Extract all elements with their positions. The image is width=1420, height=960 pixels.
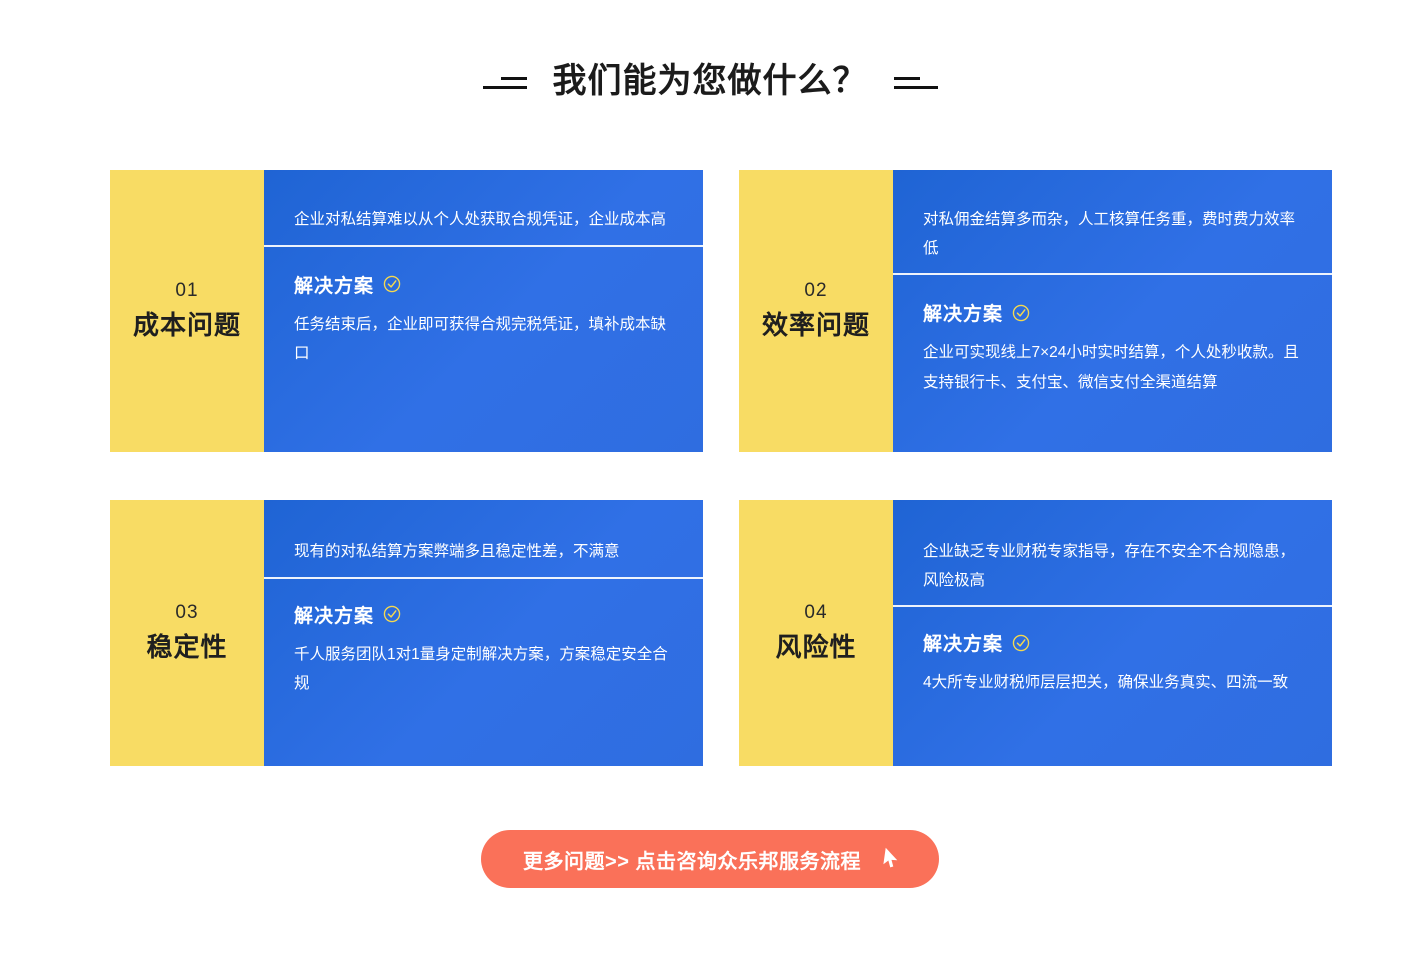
card-cost-problem[interactable]: 01 成本问题 企业对私结算难以从个人处获取合规凭证，企业成本高 解决方案	[110, 170, 703, 452]
double-dash-icon-left	[483, 73, 527, 89]
cta-label: 更多问题>> 点击咨询众乐邦服务流程	[523, 845, 861, 874]
card-problem-text: 对私佣金结算多而杂，人工核算任务重，费时费力效率低	[923, 206, 1302, 263]
card-efficiency-problem[interactable]: 02 效率问题 对私佣金结算多而杂，人工核算任务重，费时费力效率低 解决方案	[739, 170, 1332, 452]
card-solution-text: 4大所专业财税师层层把关，确保业务真实、四流一致	[923, 668, 1302, 697]
page-title: 我们能为您做什么？	[553, 64, 868, 98]
card-solution-section: 解决方案 4大所专业财税师层层把关，确保业务真实、四流一致	[893, 607, 1332, 766]
card-risk-problem[interactable]: 04 风险性 企业缺乏专业财税专家指导，存在不安全不合规隐患，风险极高 解决方案	[739, 500, 1332, 766]
card-solution-header: 解决方案	[294, 601, 673, 628]
check-circle-icon	[383, 605, 401, 623]
check-circle-icon	[1012, 304, 1030, 322]
mouse-cursor-icon	[881, 847, 901, 871]
double-dash-icon-right	[894, 73, 938, 89]
consult-service-flow-button[interactable]: 更多问题>> 点击咨询众乐邦服务流程	[481, 830, 939, 888]
card-side-label: 04 风险性	[739, 500, 893, 766]
card-body: 对私佣金结算多而杂，人工核算任务重，费时费力效率低 解决方案 企业可实现线上7	[893, 170, 1332, 452]
card-number: 03	[175, 602, 198, 625]
card-solution-text: 任务结束后，企业即可获得合规完税凭证，填补成本缺口	[294, 310, 673, 369]
card-solution-label: 解决方案	[294, 601, 374, 628]
card-body: 企业缺乏专业财税专家指导，存在不安全不合规隐患，风险极高 解决方案 4大所专业	[893, 500, 1332, 766]
card-solution-label: 解决方案	[923, 299, 1003, 326]
card-problem-text: 企业缺乏专业财税专家指导，存在不安全不合规隐患，风险极高	[923, 538, 1302, 595]
card-category: 成本问题	[133, 309, 241, 342]
check-circle-icon	[383, 275, 401, 293]
page-root: 我们能为您做什么？ 01 成本问题 企业对私结算难以从个人处获取合规凭证，企业成…	[0, 0, 1420, 960]
card-body: 企业对私结算难以从个人处获取合规凭证，企业成本高 解决方案 任务结束后，企业即	[264, 170, 703, 452]
card-side-label: 02 效率问题	[739, 170, 893, 452]
card-solution-section: 解决方案 千人服务团队1对1量身定制解决方案，方案稳定安全合规	[264, 579, 703, 766]
card-side-label: 01 成本问题	[110, 170, 264, 452]
card-category: 效率问题	[762, 309, 870, 342]
card-solution-section: 解决方案 任务结束后，企业即可获得合规完税凭证，填补成本缺口	[264, 247, 703, 452]
problem-solution-grid: 01 成本问题 企业对私结算难以从个人处获取合规凭证，企业成本高 解决方案	[110, 170, 1335, 766]
card-problem-section: 现有的对私结算方案弊端多且稳定性差，不满意	[264, 500, 703, 577]
check-circle-icon	[1012, 634, 1030, 652]
card-solution-label: 解决方案	[294, 271, 374, 298]
card-problem-text: 现有的对私结算方案弊端多且稳定性差，不满意	[294, 538, 673, 567]
card-problem-section: 企业对私结算难以从个人处获取合规凭证，企业成本高	[264, 170, 703, 245]
card-category: 风险性	[775, 631, 856, 664]
card-stability-problem[interactable]: 03 稳定性 现有的对私结算方案弊端多且稳定性差，不满意 解决方案	[110, 500, 703, 766]
card-problem-section: 企业缺乏专业财税专家指导，存在不安全不合规隐患，风险极高	[893, 500, 1332, 605]
card-body: 现有的对私结算方案弊端多且稳定性差，不满意 解决方案 千人服务团队1对1量身定	[264, 500, 703, 766]
card-solution-header: 解决方案	[294, 271, 673, 298]
card-number: 04	[804, 602, 827, 625]
card-problem-text: 企业对私结算难以从个人处获取合规凭证，企业成本高	[294, 206, 673, 235]
card-number: 02	[804, 280, 827, 303]
card-solution-label: 解决方案	[923, 629, 1003, 656]
cta-area: 更多问题>> 点击咨询众乐邦服务流程	[0, 830, 1420, 888]
card-solution-text: 企业可实现线上7×24小时实时结算，个人处秒收款。且支持银行卡、支付宝、微信支付…	[923, 338, 1302, 397]
card-solution-header: 解决方案	[923, 299, 1302, 326]
card-problem-section: 对私佣金结算多而杂，人工核算任务重，费时费力效率低	[893, 170, 1332, 273]
card-number: 01	[175, 280, 198, 303]
card-solution-section: 解决方案 企业可实现线上7×24小时实时结算，个人处秒收款。且支持银行卡、支付宝…	[893, 275, 1332, 452]
card-solution-header: 解决方案	[923, 629, 1302, 656]
card-solution-text: 千人服务团队1对1量身定制解决方案，方案稳定安全合规	[294, 640, 673, 699]
section-heading: 我们能为您做什么？	[0, 64, 1420, 98]
card-category: 稳定性	[146, 631, 227, 664]
card-side-label: 03 稳定性	[110, 500, 264, 766]
